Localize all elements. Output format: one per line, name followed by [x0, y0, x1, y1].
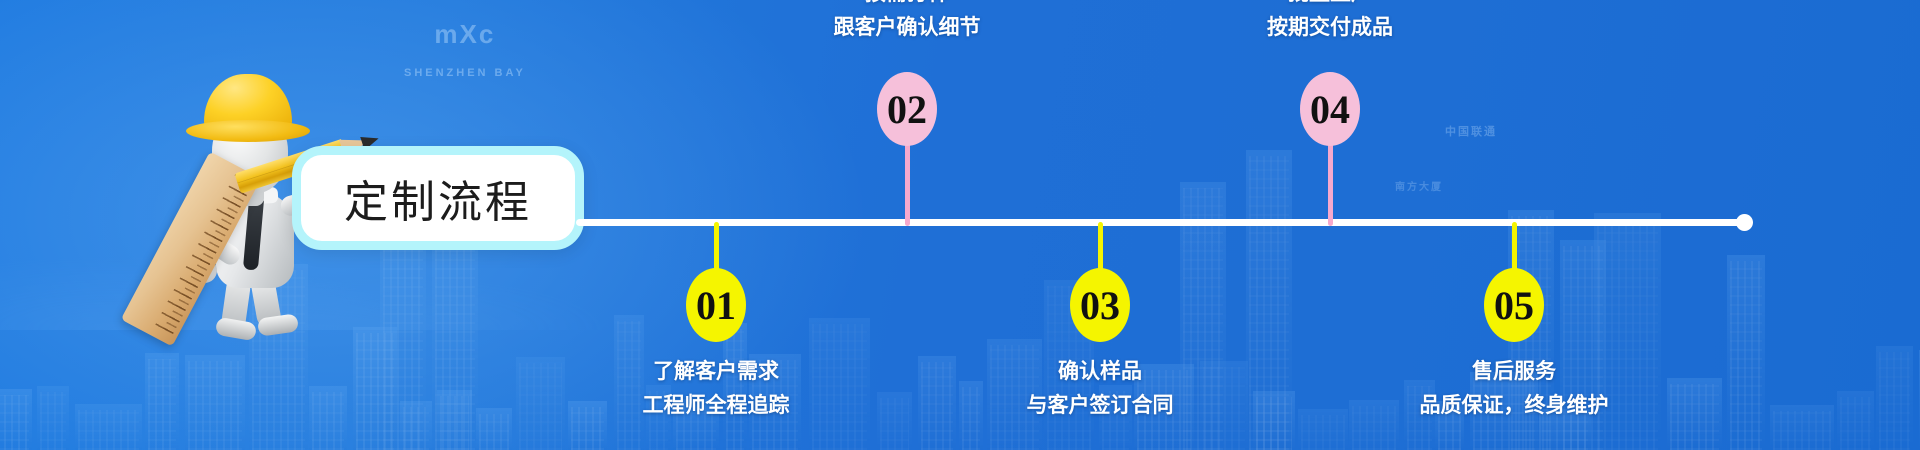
- step-connector-stem: [905, 134, 910, 226]
- timeline-axis: [576, 219, 1744, 226]
- step-caption-line2: 跟客户确认细节: [687, 10, 1127, 44]
- skyline-building: [37, 386, 69, 450]
- hard-hat-brim: [186, 120, 310, 142]
- step-caption: 了解客户需求工程师全程追踪: [496, 354, 936, 422]
- step-caption-line1: 确认样品: [880, 354, 1320, 388]
- timeline-end-dot-icon: [1736, 214, 1753, 231]
- page-title-pill: 定制流程: [292, 146, 584, 250]
- step-caption-line2: 按期交付成品: [1110, 10, 1550, 44]
- step-caption-line1: 售后服务: [1294, 354, 1734, 388]
- skyline-building: [185, 355, 245, 450]
- step-number-badge[interactable]: 02: [877, 72, 937, 146]
- custom-process-banner: mXc SHENZHEN BAY 中国联通 南方大厦: [0, 0, 1920, 450]
- step-caption: 售后服务品质保证，终身维护: [1294, 354, 1734, 422]
- skyline-building: [1837, 391, 1874, 450]
- step-caption-line2: 工程师全程追踪: [496, 388, 936, 422]
- step-caption-line1: 批量生产: [1110, 0, 1550, 10]
- step-caption: 按需打样跟客户确认细节: [687, 0, 1127, 44]
- tower-logo-line2: SHENZHEN BAY: [404, 67, 526, 79]
- step-number-badge[interactable]: 03: [1070, 268, 1130, 342]
- skyline-building: [0, 389, 32, 450]
- step-connector-stem: [1328, 134, 1333, 226]
- step-caption: 确认样品与客户签订合同: [880, 354, 1320, 422]
- step-caption-line2: 品质保证，终身维护: [1294, 388, 1734, 422]
- tower-logo-unicom: 中国联通: [1445, 126, 1497, 140]
- tower-logo-shenzhen-bay: mXc SHENZHEN BAY: [404, 18, 526, 83]
- step-number-badge[interactable]: 05: [1484, 268, 1544, 342]
- skyline-building: [145, 353, 179, 450]
- tower-logo-unicom-text: 中国联通: [1445, 126, 1497, 138]
- skyline-building: [75, 404, 142, 450]
- tower-logo-south-text: 南方大厦: [1395, 182, 1443, 193]
- skyline-building: [1770, 405, 1834, 450]
- step-caption: 批量生产按期交付成品: [1110, 0, 1550, 44]
- step-caption-line2: 与客户签订合同: [880, 388, 1320, 422]
- skyline-building: [309, 386, 347, 450]
- step-number-badge[interactable]: 04: [1300, 72, 1360, 146]
- tower-logo-south: 南方大厦: [1395, 182, 1443, 195]
- step-number-badge[interactable]: 01: [686, 268, 746, 342]
- step-caption-line1: 了解客户需求: [496, 354, 936, 388]
- skyline-building: [1876, 346, 1913, 450]
- page-title: 定制流程: [344, 166, 532, 230]
- tower-logo-line1: mXc: [434, 19, 495, 49]
- step-caption-line1: 按需打样: [687, 0, 1127, 10]
